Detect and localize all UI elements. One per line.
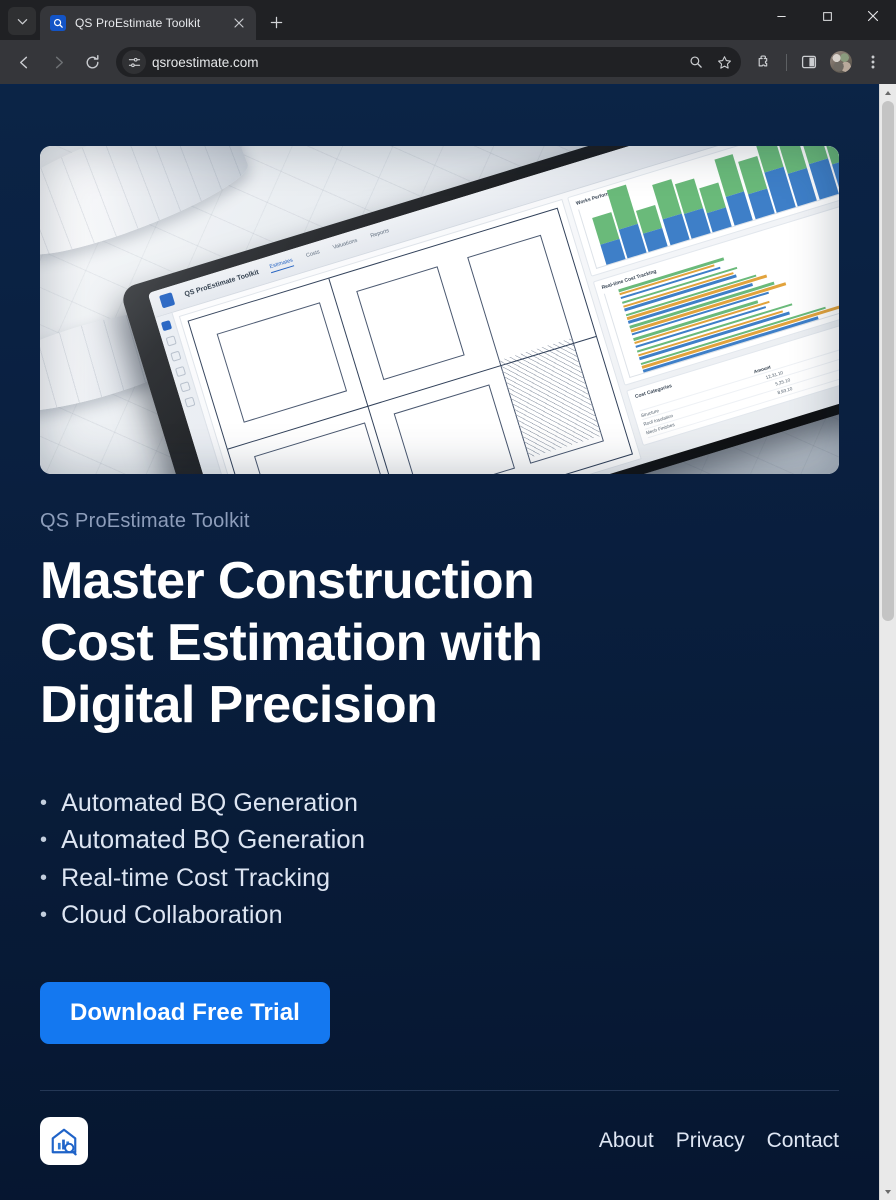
puzzle-piece-icon — [756, 54, 773, 71]
omnibox-actions — [683, 49, 737, 75]
page-footer: About Privacy Contact — [40, 1117, 839, 1165]
floor-plan-room — [254, 423, 390, 474]
close-icon — [234, 18, 244, 28]
bar — [600, 239, 625, 265]
page-viewport: QS ProEstimate Toolkit Estimates Costs V… — [0, 84, 896, 1200]
chrome-menu-button[interactable] — [858, 47, 888, 77]
list-item: • Automated BQ Generation — [40, 822, 839, 860]
app-menu-item[interactable]: Valuations — [332, 238, 359, 254]
app-menu-item[interactable]: Estimates — [269, 257, 295, 273]
minimize-icon — [776, 11, 787, 22]
scroll-up-button[interactable] — [880, 84, 896, 101]
browser-toolbar: qsroestimate.com — [0, 40, 896, 84]
hero-image: QS ProEstimate Toolkit Estimates Costs V… — [40, 146, 839, 474]
toolbar-separator — [786, 54, 787, 71]
tab-close-button[interactable] — [230, 14, 248, 32]
footer-link-contact[interactable]: Contact — [767, 1129, 839, 1153]
app-menu-item[interactable]: Costs — [305, 249, 321, 262]
rail-tool-icon[interactable] — [180, 381, 191, 392]
list-item: • Real-time Cost Tracking — [40, 860, 839, 897]
download-free-trial-button[interactable]: Download Free Trial — [40, 982, 330, 1044]
footer-divider — [40, 1090, 839, 1091]
floor-plan-room — [357, 267, 465, 380]
footer-link-privacy[interactable]: Privacy — [676, 1129, 745, 1153]
tab-strip: QS ProEstimate Toolkit — [0, 0, 896, 40]
reload-button[interactable] — [76, 46, 108, 78]
search-favicon — [50, 15, 66, 31]
extensions-button[interactable] — [749, 47, 779, 77]
col-label — [637, 404, 638, 409]
scrollbar-thumb[interactable] — [882, 101, 894, 621]
bookmark-button[interactable] — [711, 49, 737, 75]
list-item: • Automated BQ Generation — [40, 785, 839, 822]
footer-link-about[interactable]: About — [599, 1129, 654, 1153]
forward-button[interactable] — [42, 46, 74, 78]
app-menu-item[interactable]: Reports — [370, 228, 391, 242]
bar — [707, 207, 732, 232]
web-page: QS ProEstimate Toolkit Estimates Costs V… — [0, 84, 879, 1200]
close-icon — [867, 10, 879, 22]
rail-tool-icon[interactable] — [166, 335, 177, 346]
footer-links: About Privacy Contact — [599, 1129, 839, 1153]
plus-icon — [270, 16, 283, 29]
avatar — [830, 51, 852, 73]
maximize-icon — [822, 11, 833, 22]
tune-sliders-icon — [128, 56, 141, 69]
bullet-icon: • — [40, 905, 47, 925]
row-amount: 8,93.10 — [777, 386, 793, 395]
caret-up-icon — [884, 89, 892, 97]
app-logo-icon — [159, 292, 175, 308]
maximize-button[interactable] — [804, 0, 850, 32]
rail-tool-icon[interactable] — [170, 351, 181, 362]
rail-tool-icon[interactable] — [175, 366, 186, 377]
floor-plan-walls — [188, 208, 633, 474]
browser-tab[interactable]: QS ProEstimate Toolkit — [40, 6, 256, 40]
list-item: • Cloud Collaboration — [40, 897, 839, 934]
reload-icon — [84, 54, 101, 71]
bar — [643, 228, 668, 252]
url-text[interactable]: qsroestimate.com — [152, 55, 677, 70]
address-bar[interactable]: qsroestimate.com — [116, 47, 741, 77]
chevron-down-icon — [17, 16, 28, 27]
minimize-button[interactable] — [758, 0, 804, 32]
scroll-down-button[interactable] — [880, 1183, 896, 1200]
back-arrow-icon — [16, 54, 33, 71]
profile-button[interactable] — [826, 47, 856, 77]
bullet-icon: • — [40, 830, 47, 850]
side-panel-button[interactable] — [794, 47, 824, 77]
window-controls — [758, 0, 896, 40]
page-scrollbar[interactable] — [879, 84, 896, 1200]
page-title: Master Construction Cost Estimation with… — [40, 551, 610, 737]
back-button[interactable] — [8, 46, 40, 78]
feature-label: Real-time Cost Tracking — [61, 860, 330, 897]
house-chart-search-logo — [49, 1126, 79, 1156]
bullet-icon: • — [40, 868, 47, 888]
bullet-icon: • — [40, 793, 47, 813]
rail-tool-icon[interactable] — [184, 397, 195, 408]
star-icon — [717, 55, 732, 70]
feature-list: • Automated BQ Generation • Automated BQ… — [40, 785, 839, 934]
floor-plan-hatching — [498, 338, 602, 458]
three-dot-menu-icon — [865, 54, 881, 70]
feature-label: Automated BQ Generation — [61, 785, 358, 822]
close-window-button[interactable] — [850, 0, 896, 32]
feature-label: Automated BQ Generation — [61, 822, 365, 860]
browser-window: QS ProEstimate Toolkit — [0, 0, 896, 1200]
floor-plan-room — [394, 385, 515, 474]
search-icon — [689, 55, 703, 69]
scrollbar-track[interactable] — [880, 101, 896, 1183]
tab-search-button[interactable] — [8, 7, 36, 35]
new-tab-button[interactable] — [262, 8, 290, 36]
tablet-blueprint-photo: QS ProEstimate Toolkit Estimates Costs V… — [40, 146, 839, 474]
forward-arrow-icon — [50, 54, 67, 71]
brand-logo[interactable] — [40, 1117, 88, 1165]
tab-title: QS ProEstimate Toolkit — [75, 16, 221, 30]
floor-plan-room — [217, 303, 347, 423]
rail-tool-icon[interactable] — [161, 320, 172, 331]
site-settings-button[interactable] — [122, 50, 146, 74]
eyebrow-text: QS ProEstimate Toolkit — [40, 510, 839, 533]
zoom-search-button[interactable] — [683, 49, 709, 75]
feature-label: Cloud Collaboration — [61, 897, 282, 934]
side-panel-icon — [801, 54, 817, 70]
caret-down-icon — [884, 1188, 892, 1196]
